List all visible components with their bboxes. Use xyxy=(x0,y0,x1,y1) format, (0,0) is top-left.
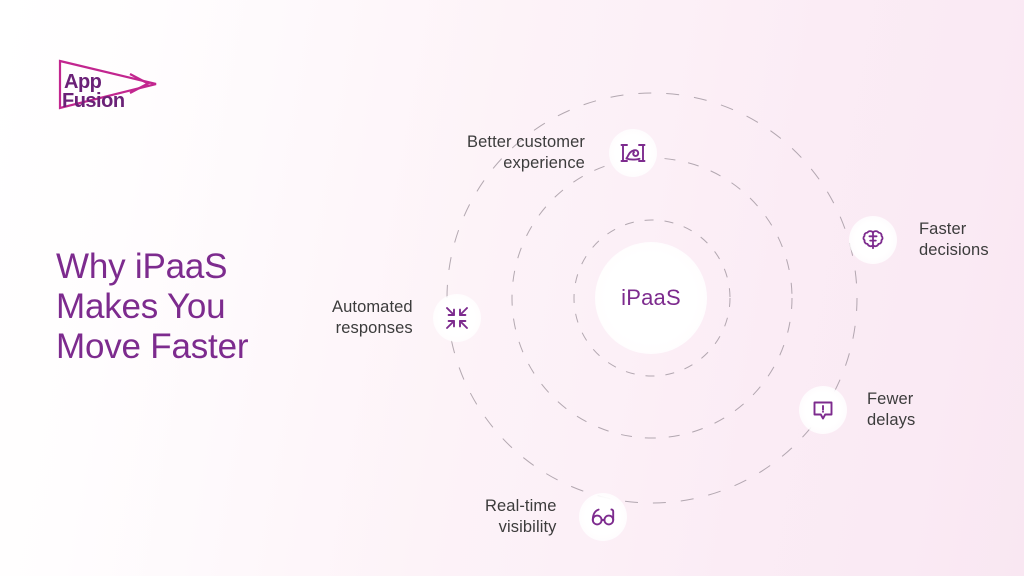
headline-line-3: Move Faster xyxy=(56,327,356,367)
appfusion-logo: App Fusion xyxy=(52,57,170,117)
diagram-node-automated-responses[interactable]: Automated responses xyxy=(332,294,481,342)
headline-line-1: Why iPaaS xyxy=(56,247,356,287)
glasses-icon xyxy=(579,493,627,541)
hub-label: iPaaS xyxy=(621,285,681,311)
diagram-node-fewer-delays[interactable]: Fewer delays xyxy=(799,386,915,434)
diagram-node-real-time-visibility[interactable]: Real-time visibility xyxy=(485,493,627,541)
svg-text:Fusion: Fusion xyxy=(62,90,125,112)
headline-line-2: Makes You xyxy=(56,287,356,327)
alert-bubble-icon xyxy=(799,386,847,434)
diagram-hub: iPaaS xyxy=(595,242,707,354)
node-label-better-customer-experience: Better customer experience xyxy=(467,132,585,174)
node-label-automated-responses: Automated responses xyxy=(332,297,413,339)
brain-icon xyxy=(849,216,897,264)
slide-canvas: App Fusion Why iPaaS Makes You Move Fast… xyxy=(0,0,1024,576)
node-label-fewer-delays: Fewer delays xyxy=(867,389,915,431)
diagram-node-faster-decisions[interactable]: Faster decisions xyxy=(849,216,989,264)
node-label-real-time-visibility: Real-time visibility xyxy=(485,496,557,538)
diagram-node-better-customer-experience[interactable]: Better customer experience xyxy=(467,129,657,177)
orbit-diagram: iPaaS Better customer experience xyxy=(389,35,915,561)
customer-experience-icon xyxy=(609,129,657,177)
page-title: Why iPaaS Makes You Move Faster xyxy=(56,247,356,367)
collapse-arrows-icon xyxy=(433,294,481,342)
node-label-faster-decisions: Faster decisions xyxy=(919,219,989,261)
